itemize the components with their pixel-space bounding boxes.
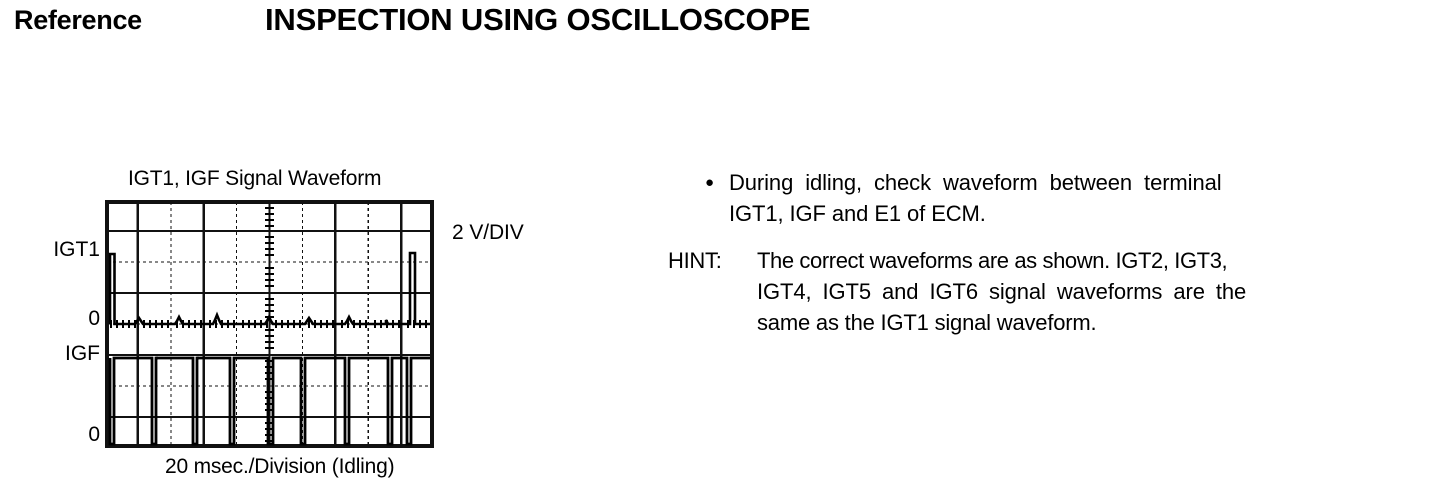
axis-label-zero-bottom: 0	[2, 423, 100, 447]
reference-label: Reference	[14, 5, 142, 36]
page-header: Reference INSPECTION USING OSCILLOSCOPE	[0, 0, 1440, 44]
hint-line-1: The correct waveforms are as shown. IGT2…	[757, 248, 1440, 274]
page-title: INSPECTION USING OSCILLOSCOPE	[265, 2, 810, 38]
vertical-scale-label: 2 V/DIV	[452, 221, 524, 245]
hint-label: HINT:	[668, 248, 722, 274]
waveform-plot	[105, 200, 434, 448]
horizontal-scale-label: 20 msec./Division (Idling)	[165, 455, 394, 479]
bullet-note-line-2: IGT1, IGF and E1 of ECM.	[729, 201, 1440, 227]
axis-label-zero-top: 0	[2, 307, 100, 331]
bullet-icon: ●	[705, 175, 714, 190]
oscilloscope-screen	[105, 200, 434, 448]
hint-line-3: same as the IGT1 signal waveform.	[757, 310, 1440, 336]
hint-line-2: IGT4, IGT5 and IGT6 signal waveforms are…	[757, 279, 1440, 305]
oscilloscope-figure: IGT1, IGF Signal Waveform 2 V/DIV 20 mse…	[0, 155, 600, 492]
bullet-note-line-1: During idling, check waveform between te…	[729, 170, 1440, 196]
axis-label-igf: IGF	[2, 342, 100, 366]
axis-label-igt1: IGT1	[2, 238, 100, 262]
notes-block: ● During idling, check waveform between …	[700, 170, 1440, 360]
figure-title: IGT1, IGF Signal Waveform	[128, 167, 381, 191]
